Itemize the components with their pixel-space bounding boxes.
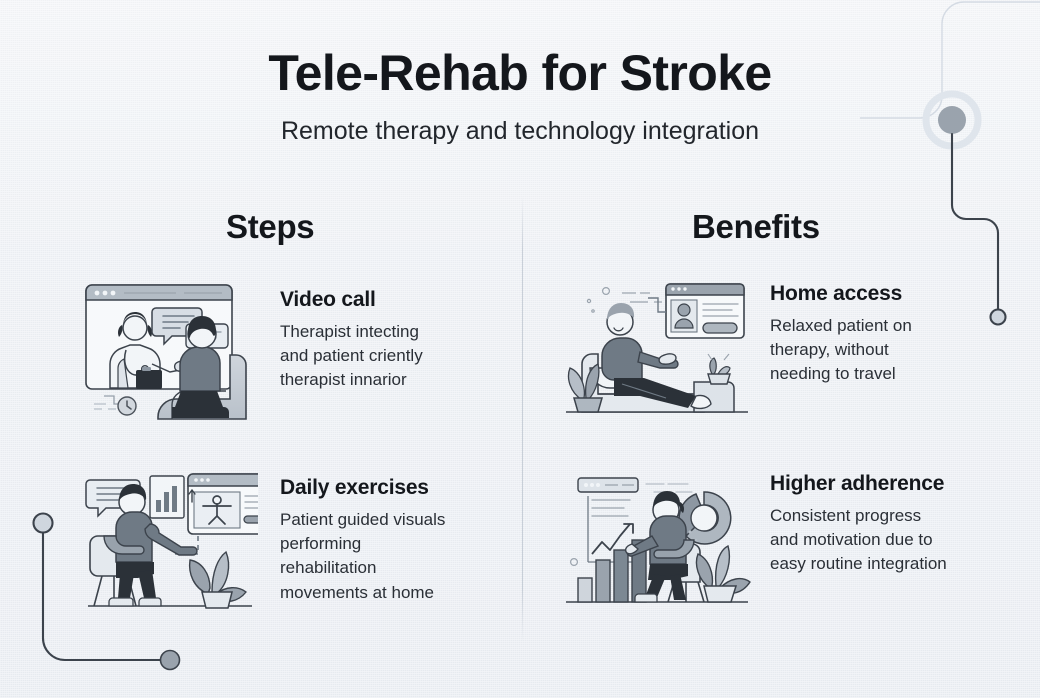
home-access-illustration: [562, 272, 752, 424]
daily-exercises-illustration: [80, 466, 258, 618]
item-higher-adherence-illustration-block: Higher adherence Consistent progress and…: [562, 462, 985, 614]
item-body: Patient guided visuals performing rehabi…: [280, 508, 490, 605]
item-heading: Daily exercises: [280, 476, 490, 500]
item-video-call: Video call Therapist intecting and patie…: [80, 278, 480, 426]
higher-adherence-illustration: [562, 462, 752, 614]
video-call-illustration: [80, 278, 258, 426]
column-heading-steps: Steps: [226, 210, 314, 243]
item-heading: Video call: [280, 288, 480, 312]
page-title: Tele-Rehab for Stroke: [0, 48, 1040, 98]
item-body: Therapist intecting and patient criently…: [280, 320, 480, 392]
item-heading: Home access: [770, 282, 975, 306]
item-daily-exercises: Daily exercises Patient guided visuals p…: [80, 466, 490, 618]
item-body: Consistent progress and motivation due t…: [770, 504, 985, 576]
page-subtitle: Remote therapy and technology integratio…: [0, 118, 1040, 146]
column-divider: [522, 196, 523, 642]
column-heading-benefits: Benefits: [692, 210, 820, 243]
item-body: Relaxed patient on therapy, without need…: [770, 314, 975, 386]
item-heading: Higher adherence: [770, 472, 985, 496]
item-home-access: Home access Relaxed patient on therapy, …: [562, 272, 975, 424]
infographic-canvas: Tele-Rehab for Stroke Remote therapy and…: [0, 0, 1040, 698]
